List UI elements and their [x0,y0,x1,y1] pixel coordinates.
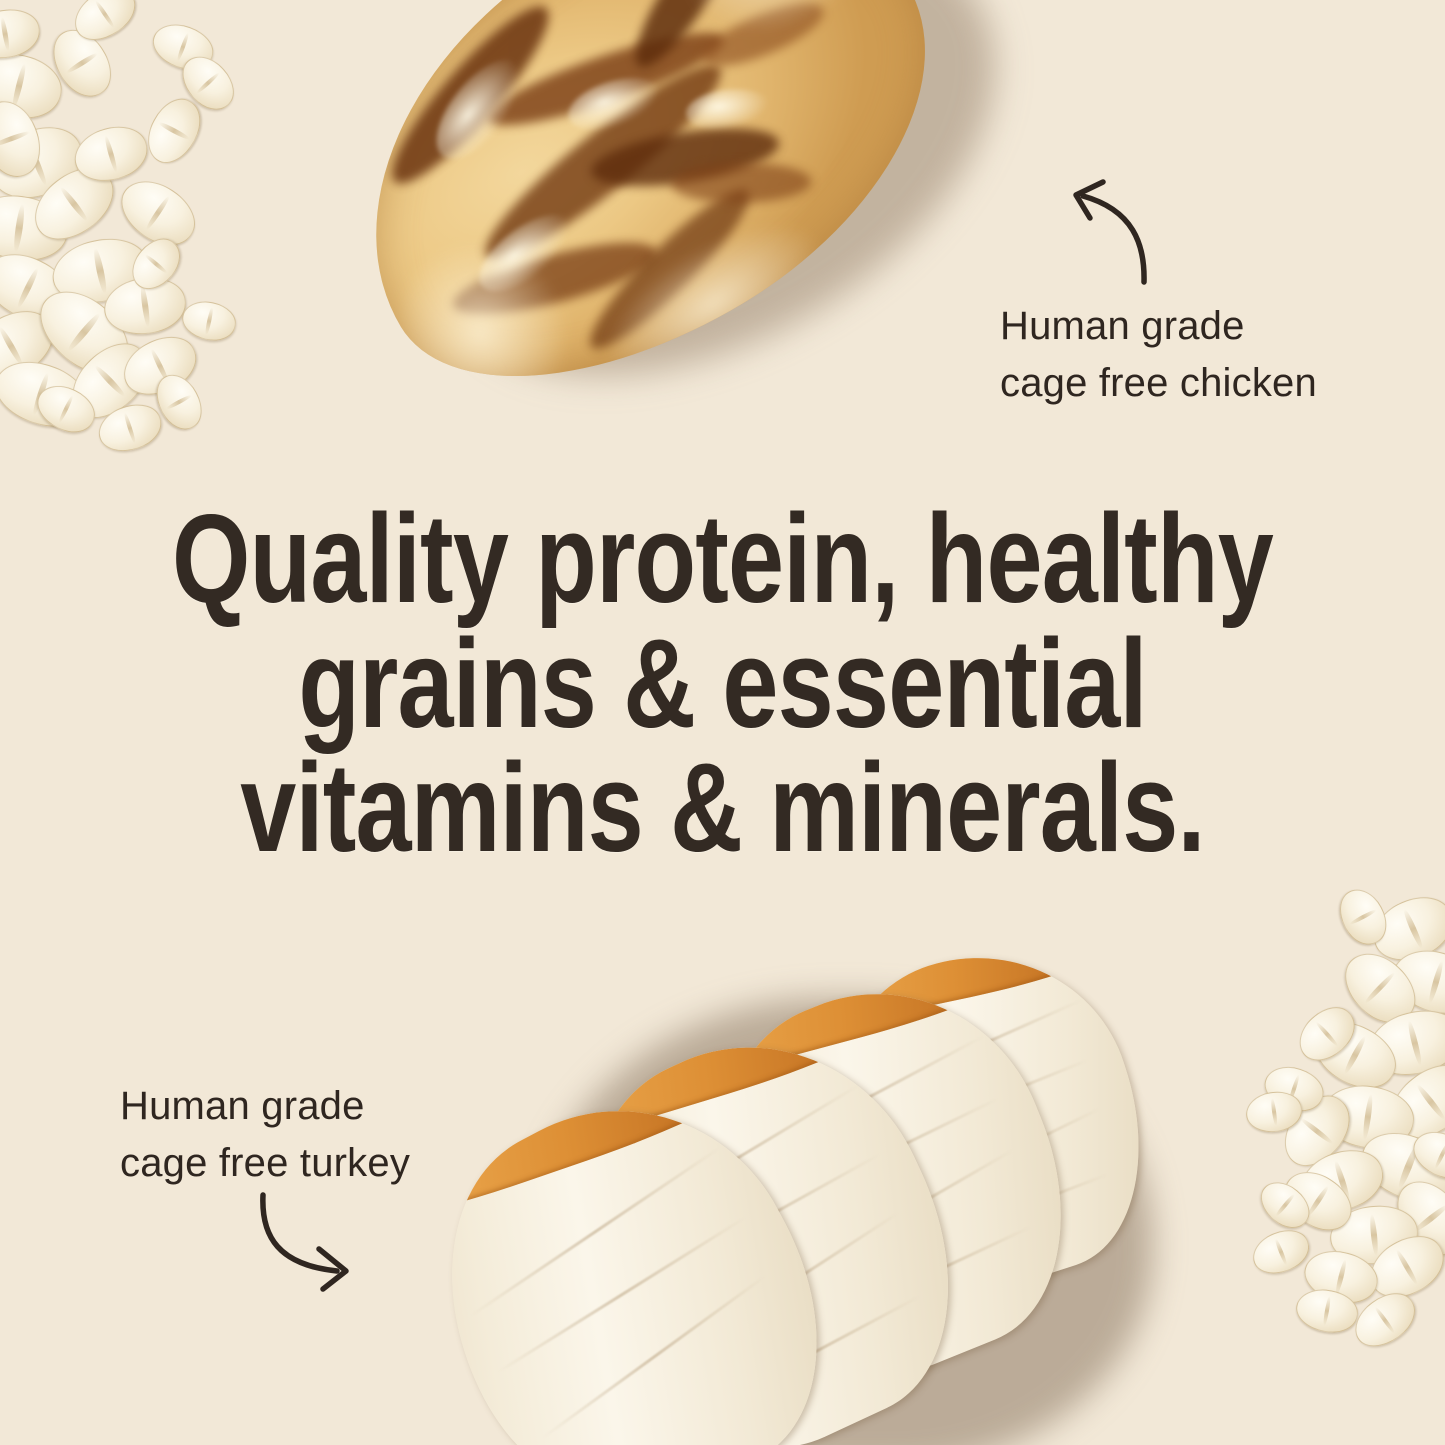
sliced-roast-turkey-image [405,940,1165,1445]
page-headline: Quality protein, healthy grains & essent… [145,497,1301,871]
oat-flake [179,297,240,345]
product-feature-poster: Quality protein, healthy grains & essent… [0,0,1445,1445]
turkey-grain [497,1216,746,1373]
curved-arrow-up-left-icon [1045,170,1175,300]
callout-turkey-label: Human grade cage free turkey [120,1078,410,1192]
turkey-grain [542,1274,767,1439]
turkey-skin [385,1056,748,1237]
grilled-chicken-breast-image [229,0,1107,562]
callout-chicken-label: Human grade cage free chicken [1000,298,1317,412]
curved-arrow-down-right-icon [253,1183,383,1298]
